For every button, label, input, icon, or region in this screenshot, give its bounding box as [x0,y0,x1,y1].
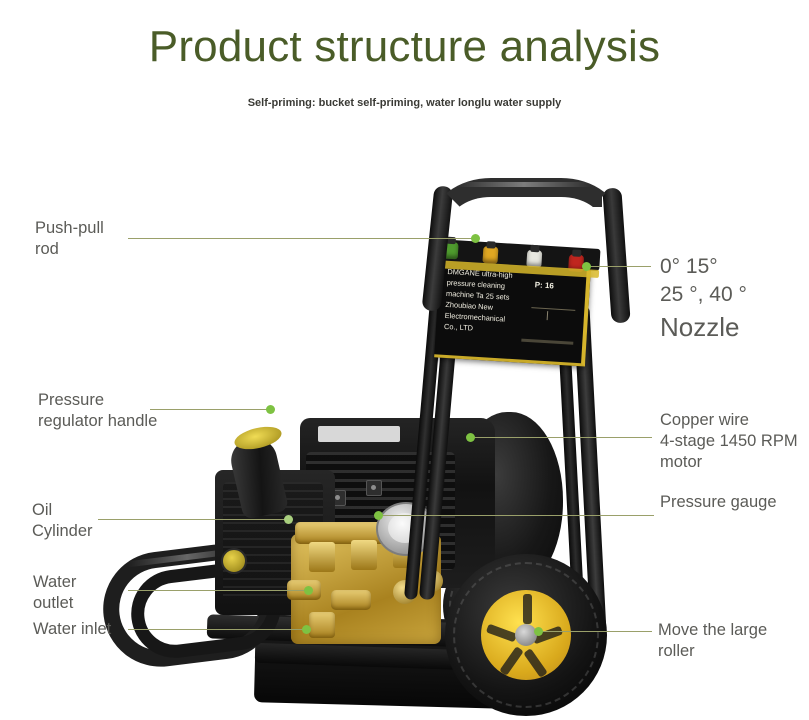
push-pull-handle-bar[interactable] [431,178,621,226]
label-nozzle-angles-2: 25 °, 40 ° [660,281,800,308]
yellow-nozzle-tip[interactable] [482,246,498,264]
panel-graphic [530,307,576,337]
label-nozzle-title: Nozzle [660,311,800,343]
dot-motor [466,433,475,442]
wheel-hub [515,624,537,646]
leader-line-move-roller [540,631,652,632]
wheel-spoke [523,594,532,624]
panel-strip [521,339,573,345]
wheel-spoke [486,624,517,643]
manifold-drain [309,612,335,638]
nozzle-holder-bar [434,239,600,271]
leader-line-push-pull-rod [128,238,475,239]
wheel-spoke [523,648,548,678]
wheel-spoke [499,646,524,676]
page-subtitle: Self-priming: bucket self-priming, water… [0,97,809,109]
label-water-outlet: Water outlet [33,572,143,614]
page-title: Product structure analysis [0,22,809,72]
oil-sight-glass [221,548,247,574]
front-wheel [445,554,607,716]
dot-water-outlet [304,586,313,595]
manifold-hex-nut [351,540,377,570]
label-water-inlet: Water inlet [33,619,163,640]
dot-move-roller [534,627,543,636]
product-diagram: Product structure analysis Self-priming:… [0,0,809,720]
leader-line-pressure-gauge [378,515,654,516]
dot-push-pull-rod [471,234,480,243]
leader-line-nozzle [588,266,651,267]
label-nozzle-angles-1: 0° 15° [660,253,800,280]
label-oil-cylinder: Oil Cylinder [32,500,152,542]
white-nozzle-tip[interactable] [526,250,542,268]
label-move-large-roller: Move the large roller [658,620,808,662]
water-outlet-port [331,590,371,610]
motor-bolt [366,480,382,496]
manifold-hex-nut [309,542,335,572]
dot-pressure-regulator [266,405,275,414]
label-push-pull-rod: Push-pull rod [35,218,145,260]
leader-line-water-outlet [128,590,308,591]
dot-nozzle [582,262,591,271]
red-nozzle-tip[interactable] [568,254,584,272]
leader-line-motor [470,437,652,438]
label-pressure-regulator-handle: Pressure regulator handle [38,390,228,432]
panel-spec-text: DMGANE ultra-high pressure cleaning mach… [444,266,532,337]
panel-pressure-code: P: 16 [534,280,554,290]
dot-pressure-gauge [374,511,383,520]
motor-nameplate [318,426,400,442]
label-motor: Copper wire 4-stage 1450 RPM motor [660,410,809,473]
label-pressure-gauge: Pressure gauge [660,492,809,513]
dot-oil-cylinder [284,515,293,524]
dot-water-inlet [302,625,311,634]
